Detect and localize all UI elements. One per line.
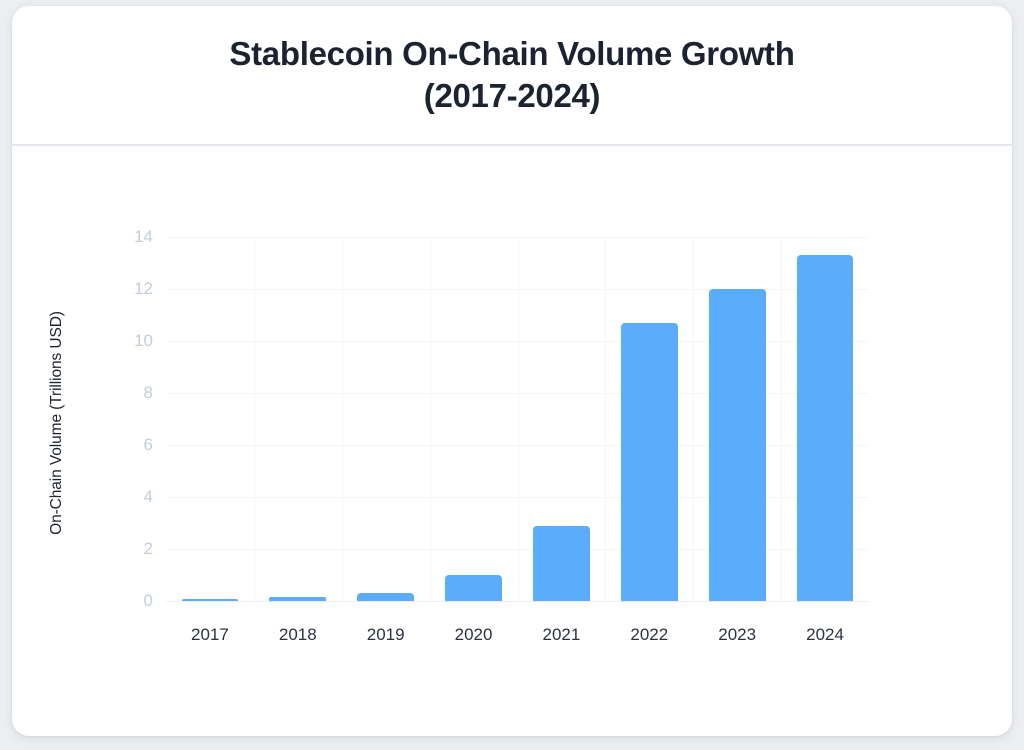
bar-2022[interactable]	[621, 323, 678, 601]
y-axis-tick-label: 4	[144, 487, 153, 507]
chart-title-line-1: Stablecoin On-Chain Volume Growth	[229, 33, 794, 75]
bar-2021[interactable]	[533, 526, 590, 601]
bar-2017[interactable]	[182, 599, 239, 601]
chart-body: On-Chain Volume (Trillions USD) 02468101…	[12, 148, 1012, 736]
bar-2020[interactable]	[445, 575, 502, 601]
gridline-vertical	[693, 237, 694, 601]
y-axis-tick-label: 10	[134, 331, 153, 351]
x-axis-tick-label: 2018	[279, 625, 317, 645]
plot-area: 0246810121420172018201920202021202220232…	[166, 237, 869, 601]
page-title: Stablecoin On-Chain Volume Growth (2017-…	[229, 33, 794, 117]
gridline-vertical	[781, 237, 782, 601]
x-axis-tick-label: 2017	[191, 625, 229, 645]
y-axis-tick-label: 8	[144, 383, 153, 403]
bar-2018[interactable]	[269, 597, 326, 601]
gridline-vertical	[430, 237, 431, 601]
gridline-vertical	[342, 237, 343, 601]
y-axis-tick-label: 14	[134, 227, 153, 247]
bar-2024[interactable]	[797, 255, 854, 601]
x-axis-tick-label: 2019	[367, 625, 405, 645]
gridline-horizontal	[166, 601, 869, 602]
y-axis-tick-label: 0	[144, 591, 153, 611]
chart-title-line-2: (2017-2024)	[229, 75, 794, 117]
gridline-vertical	[518, 237, 519, 601]
bar-2023[interactable]	[709, 289, 766, 601]
x-axis-tick-label: 2021	[543, 625, 581, 645]
y-axis-tick-label: 2	[144, 539, 153, 559]
gridline-vertical	[605, 237, 606, 601]
y-axis-tick-label: 6	[144, 435, 153, 455]
x-axis-tick-label: 2020	[455, 625, 493, 645]
gridline-vertical	[254, 237, 255, 601]
y-axis-tick-label: 12	[134, 279, 153, 299]
chart-card: Stablecoin On-Chain Volume Growth (2017-…	[12, 6, 1012, 736]
x-axis-tick-label: 2023	[718, 625, 756, 645]
bar-2019[interactable]	[357, 593, 414, 601]
x-axis-tick-label: 2022	[630, 625, 668, 645]
card-header: Stablecoin On-Chain Volume Growth (2017-…	[12, 6, 1012, 146]
x-axis-tick-label: 2024	[806, 625, 844, 645]
y-axis-title: On-Chain Volume (Trillions USD)	[48, 273, 66, 573]
